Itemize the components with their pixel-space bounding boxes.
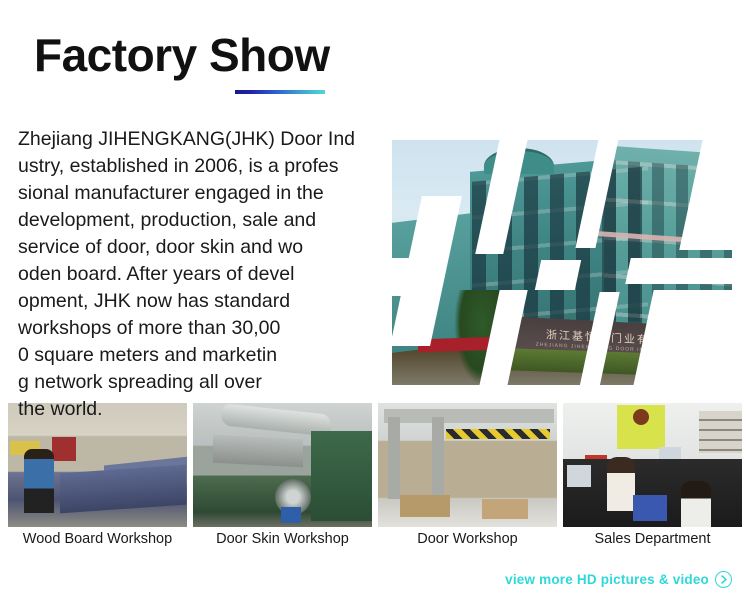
view-more-link[interactable]: view more HD pictures & video: [505, 571, 732, 588]
caption-wood-board-workshop: Wood Board Workshop: [8, 531, 187, 547]
title-underline-rule: [235, 90, 325, 94]
chevron-right-circle-icon[interactable]: [715, 571, 732, 588]
hero-factory-image[interactable]: 浙江基恒康门业有限公司 ZHEJIANG JIHENGKANG DOOR IND…: [392, 140, 732, 385]
page-title: Factory Show: [34, 30, 330, 81]
thumb-photo: [563, 403, 742, 527]
building-rooftop-dome: [484, 148, 554, 174]
caption-door-skin-workshop: Door Skin Workshop: [193, 531, 372, 547]
thumbnail-captions: Wood Board Workshop Door Skin Workshop D…: [8, 531, 742, 547]
factory-show-page: Factory Show 浙江基恒康门业有限公司 ZHEJIANG JIHENG…: [0, 0, 750, 613]
thumbnail-sales-department[interactable]: [563, 403, 742, 527]
caption-door-workshop: Door Workshop: [378, 531, 557, 547]
hero-photo-backdrop: 浙江基恒康门业有限公司 ZHEJIANG JIHENGKANG DOOR IND…: [392, 140, 732, 385]
view-more-label: view more HD pictures & video: [505, 572, 709, 587]
company-intro-paragraph: Zhejiang JIHENGKANG(JHK) Door Ind ustry,…: [18, 126, 430, 423]
caption-sales-department: Sales Department: [563, 531, 742, 547]
